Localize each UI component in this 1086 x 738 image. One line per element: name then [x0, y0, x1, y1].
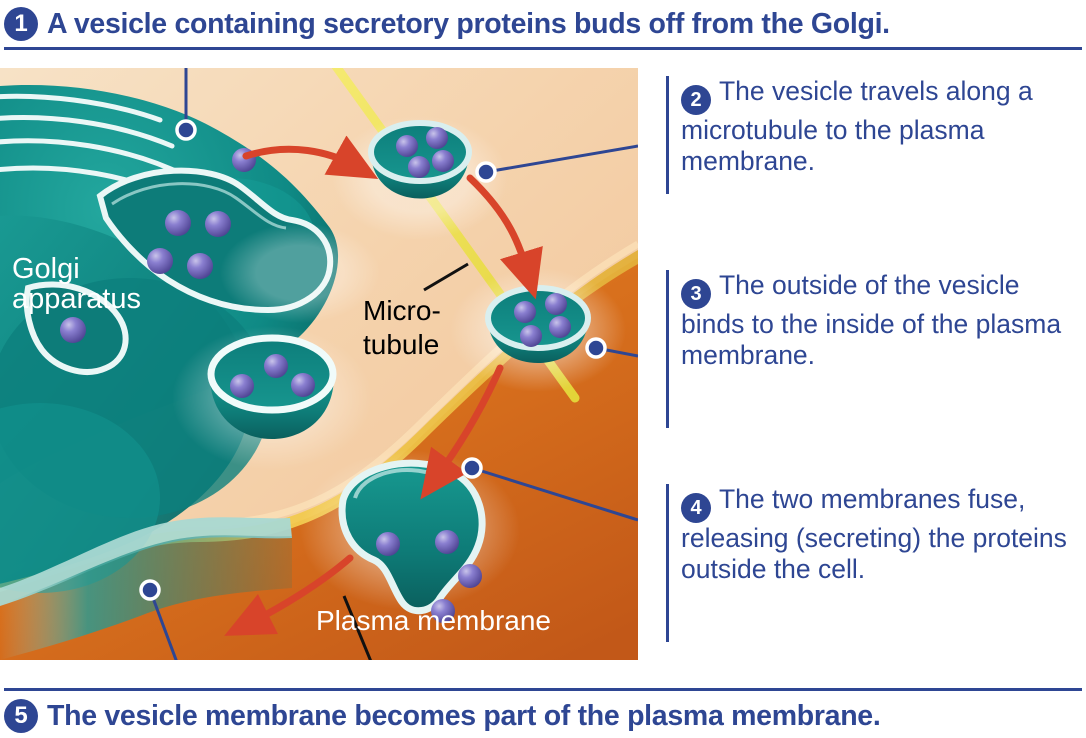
step-3-body: 3The outside of the vesicle binds to the… [681, 270, 1086, 371]
step-5-caption: 5 The vesicle membrane becomes part of t… [4, 694, 1082, 738]
step-number-badge-3: 3 [681, 279, 711, 309]
callout-bracket-2 [666, 76, 669, 194]
secretory-pathway-illustration: Golgi apparatus Micro- tubule Plasma mem… [0, 68, 638, 660]
step-2-body: 2The vesicle travels along a microtubule… [681, 76, 1086, 177]
step-1-caption: 1 A vesicle containing secretory protein… [4, 2, 1082, 46]
callout-bracket-4 [666, 484, 669, 642]
vesicle-free-cytoplasm [172, 326, 372, 470]
step-number-badge-5: 5 [4, 699, 38, 733]
step-3-text: The outside of the vesicle binds to the … [681, 270, 1061, 370]
vesicle-docking-at-membrane [450, 268, 626, 392]
step-2-callout: 2The vesicle travels along a microtubule… [666, 76, 1086, 194]
step-number-badge-4: 4 [681, 493, 711, 523]
cell-diagram-svg [0, 68, 638, 660]
step-number-badge-1: 1 [4, 7, 38, 41]
divider-bottom [4, 688, 1082, 691]
step-1-caption-text: A vesicle containing secretory proteins … [47, 8, 890, 41]
callout-bracket-3 [666, 270, 669, 428]
step-2-text: The vesicle travels along a microtubule … [681, 76, 1033, 176]
divider-top [4, 47, 1082, 50]
step-3-callout: 3The outside of the vesicle binds to the… [666, 270, 1086, 428]
step-4-text: The two membranes fuse, releasing (secre… [681, 484, 1067, 584]
step-4-callout: 4The two membranes fuse, releasing (secr… [666, 484, 1086, 642]
step-number-badge-2: 2 [681, 85, 711, 115]
step-5-caption-text: The vesicle membrane becomes part of the… [47, 700, 880, 733]
step-4-body: 4The two membranes fuse, releasing (secr… [681, 484, 1086, 585]
